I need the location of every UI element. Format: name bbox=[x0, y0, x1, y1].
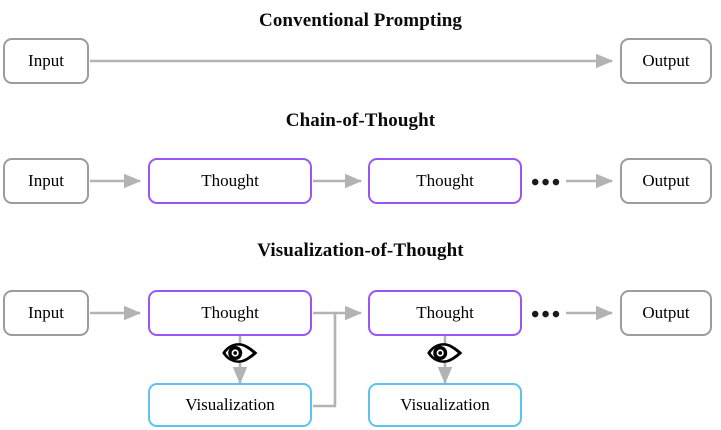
node-cot-thought-1[interactable]: Thought bbox=[148, 158, 312, 204]
node-label: Thought bbox=[416, 172, 474, 190]
ellipsis-vot: ••• bbox=[531, 303, 562, 327]
node-vot-thought-2[interactable]: Thought bbox=[368, 290, 522, 336]
ellipsis-cot: ••• bbox=[531, 171, 562, 195]
node-label: Output bbox=[642, 52, 689, 70]
node-vot-input[interactable]: Input bbox=[3, 290, 89, 336]
node-label: Input bbox=[28, 172, 64, 190]
node-label: Input bbox=[28, 52, 64, 70]
node-label: Output bbox=[642, 304, 689, 322]
node-vot-visualization-2[interactable]: Visualization bbox=[368, 383, 522, 427]
node-vot-visualization-1[interactable]: Visualization bbox=[148, 383, 312, 427]
node-vot-thought-1[interactable]: Thought bbox=[148, 290, 312, 336]
node-vot-output[interactable]: Output bbox=[620, 290, 712, 336]
node-label: Thought bbox=[416, 304, 474, 322]
node-label: Thought bbox=[201, 304, 259, 322]
figure-root: Conventional Prompting Input Output Chai… bbox=[0, 0, 721, 430]
eye-icon bbox=[220, 340, 260, 366]
node-label: Visualization bbox=[400, 396, 490, 414]
node-label: Output bbox=[642, 172, 689, 190]
node-label: Visualization bbox=[185, 396, 275, 414]
node-cot-output[interactable]: Output bbox=[620, 158, 712, 204]
eye-icon bbox=[425, 340, 465, 366]
node-conventional-input[interactable]: Input bbox=[3, 38, 89, 84]
node-label: Input bbox=[28, 304, 64, 322]
node-cot-thought-2[interactable]: Thought bbox=[368, 158, 522, 204]
node-conventional-output[interactable]: Output bbox=[620, 38, 712, 84]
node-cot-input[interactable]: Input bbox=[3, 158, 89, 204]
node-label: Thought bbox=[201, 172, 259, 190]
connector-edges bbox=[0, 0, 721, 430]
